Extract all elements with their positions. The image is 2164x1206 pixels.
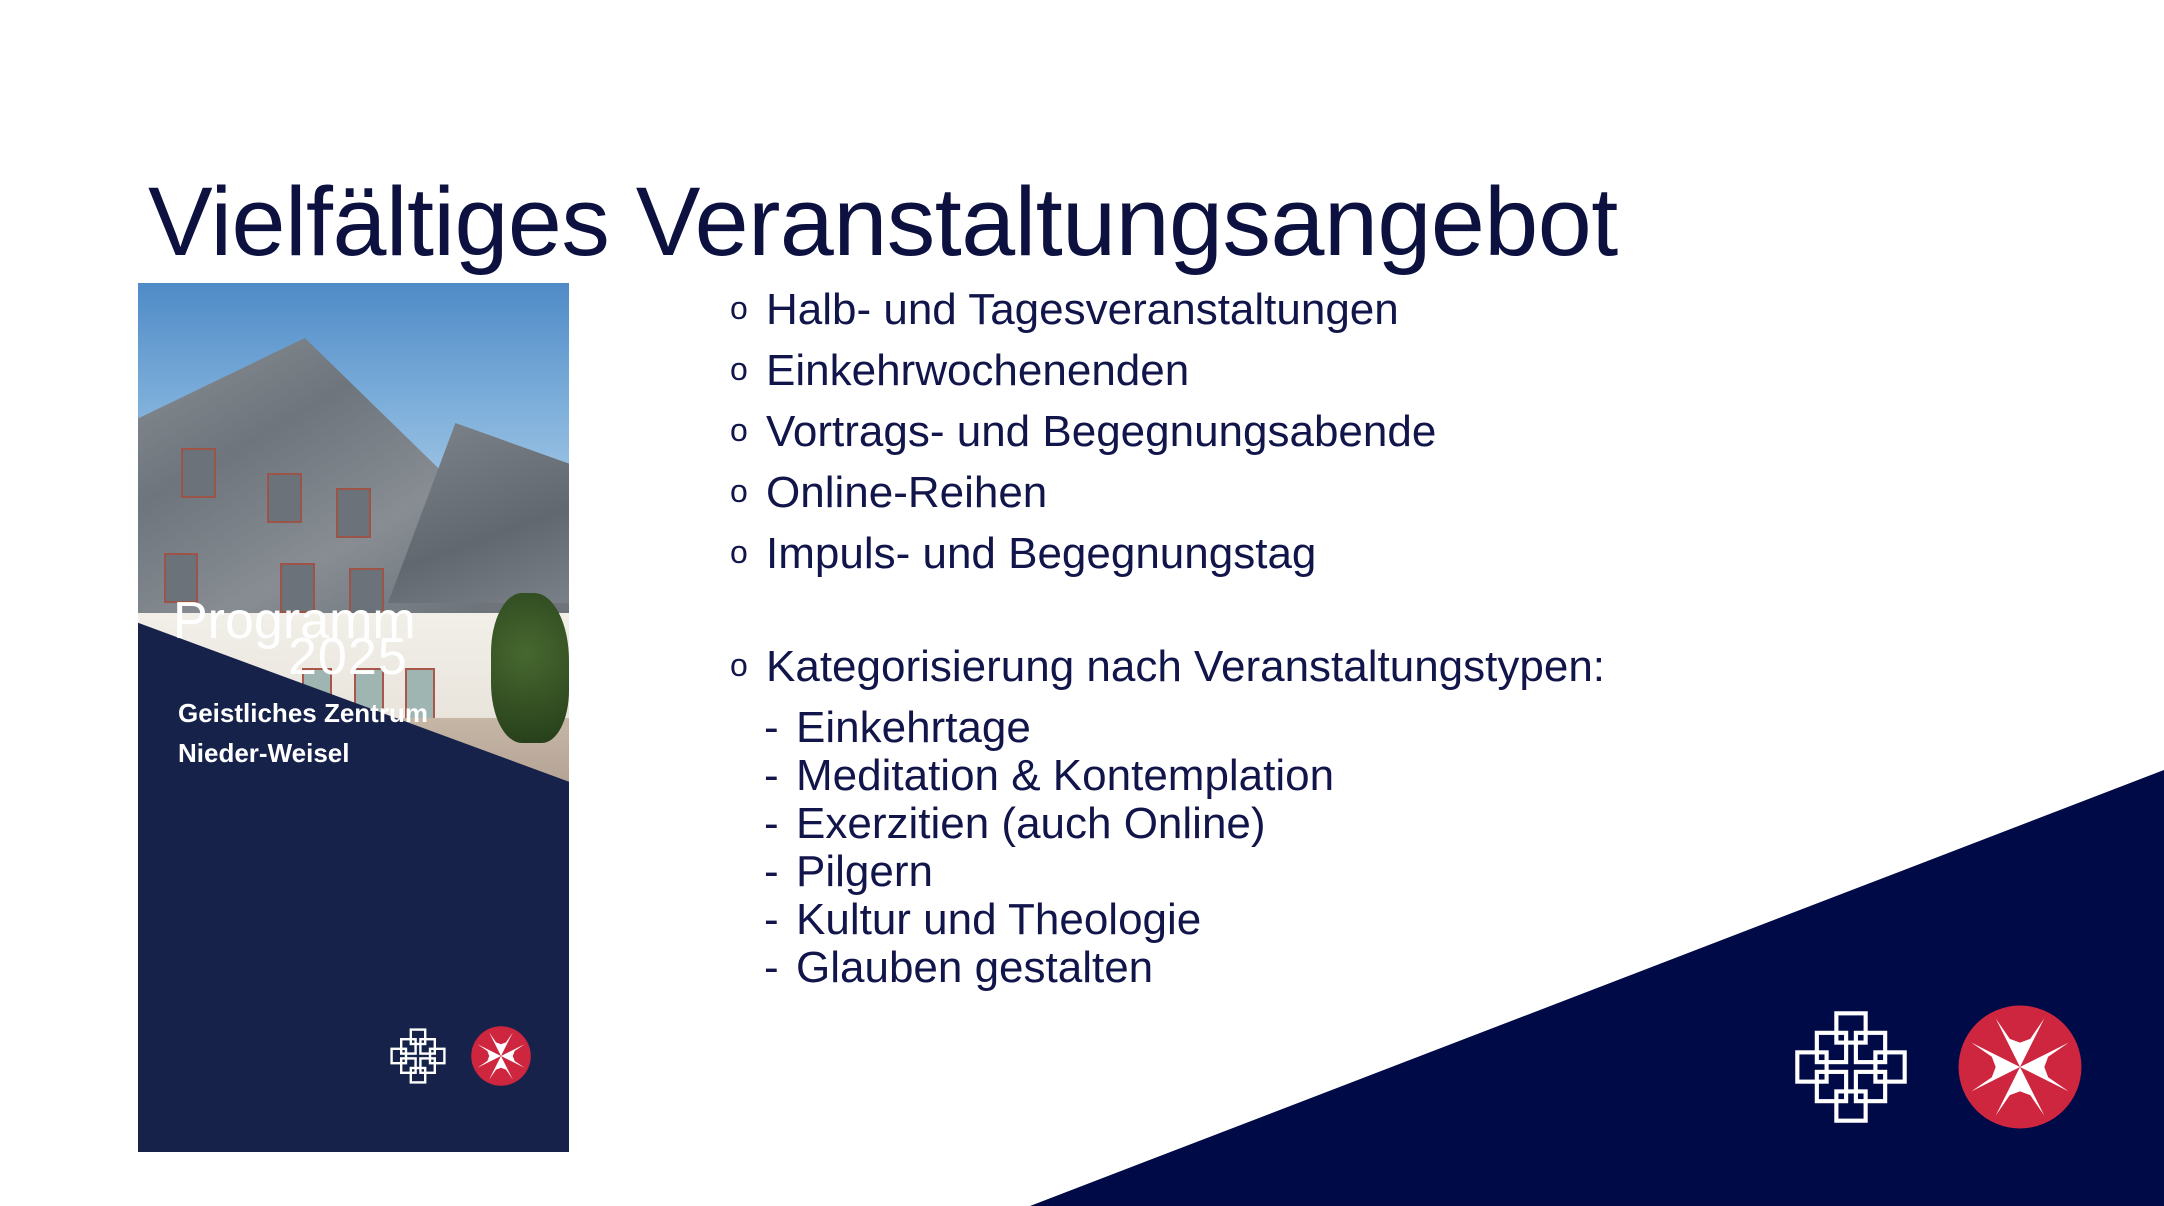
list-item: o Einkehrwochenenden: [730, 349, 1980, 393]
maltese-cross-icon: [470, 1025, 532, 1087]
list-spacer: [730, 593, 1980, 645]
dash-marker: -: [764, 850, 796, 894]
johanniter-cross-icon: [388, 1026, 448, 1086]
brochure-organisation-line1: Geistliches Zentrum: [178, 693, 428, 733]
johanniter-cross-icon: [1790, 1006, 1912, 1128]
brochure-organisation: Geistliches Zentrum Nieder-Weisel: [178, 693, 428, 774]
bullet-content: o Halb- und Tagesveranstaltungen o Einke…: [730, 288, 1980, 994]
list-item-label: Einkehrtage: [796, 706, 1980, 750]
list-item: - Einkehrtage: [764, 706, 1980, 750]
list-item-label: Pilgern: [796, 850, 1980, 894]
list-item: - Meditation & Kontemplation: [764, 754, 1980, 798]
list-item: - Glauben gestalten: [764, 946, 1980, 990]
brochure-organisation-line2: Nieder-Weisel: [178, 733, 428, 773]
bullet-marker: o: [730, 288, 766, 329]
category-sub-list: - Einkehrtage - Meditation & Kontemplati…: [730, 706, 1980, 990]
brochure-text-block: Programm 2025 Geistliches Zentrum Nieder…: [138, 283, 569, 1152]
bullet-marker: o: [730, 645, 766, 686]
list-item: - Kultur und Theologie: [764, 898, 1980, 942]
dash-marker: -: [764, 946, 796, 990]
list-item: o Vortrags- und Begegnungsabende: [730, 410, 1980, 454]
dash-marker: -: [764, 706, 796, 750]
dash-marker: -: [764, 754, 796, 798]
brochure-cover: Programm 2025 Geistliches Zentrum Nieder…: [138, 283, 569, 1152]
list-item-label: Exerzitien (auch Online): [796, 802, 1980, 846]
brochure-year: 2025: [288, 631, 408, 683]
bullet-marker: o: [730, 532, 766, 573]
list-item-label: Kategorisierung nach Veranstaltungstypen…: [766, 645, 1980, 689]
dash-marker: -: [764, 802, 796, 846]
category-bullet-list: o Kategorisierung nach Veranstaltungstyp…: [730, 645, 1980, 689]
brochure-logo-group: [388, 1025, 532, 1087]
maltese-cross-icon: [1956, 1003, 2084, 1131]
list-item-label: Vortrags- und Begegnungsabende: [766, 410, 1980, 454]
bullet-marker: o: [730, 349, 766, 390]
list-item-label: Online-Reihen: [766, 471, 1980, 515]
presentation-slide: Vielfältiges Veranstaltungsangebot Progr…: [0, 0, 2164, 1206]
list-item: o Kategorisierung nach Veranstaltungstyp…: [730, 645, 1980, 689]
list-item-label: Halb- und Tagesveranstaltungen: [766, 288, 1980, 332]
list-item-label: Impuls- und Begegnungstag: [766, 532, 1980, 576]
main-bullet-list: o Halb- und Tagesveranstaltungen o Einke…: [730, 288, 1980, 576]
bullet-marker: o: [730, 471, 766, 512]
corner-logo-group: [1790, 1003, 2084, 1131]
list-item-label: Kultur und Theologie: [796, 898, 1980, 942]
list-item-label: Einkehrwochenenden: [766, 349, 1980, 393]
list-item: - Exerzitien (auch Online): [764, 802, 1980, 846]
list-item: o Online-Reihen: [730, 471, 1980, 515]
dash-marker: -: [764, 898, 796, 942]
list-item: o Halb- und Tagesveranstaltungen: [730, 288, 1980, 332]
bullet-marker: o: [730, 410, 766, 451]
list-item: o Impuls- und Begegnungstag: [730, 532, 1980, 576]
list-item-label: Glauben gestalten: [796, 946, 1980, 990]
list-item-label: Meditation & Kontemplation: [796, 754, 1980, 798]
list-item: - Pilgern: [764, 850, 1980, 894]
page-title: Vielfältiges Veranstaltungsangebot: [148, 171, 2048, 273]
